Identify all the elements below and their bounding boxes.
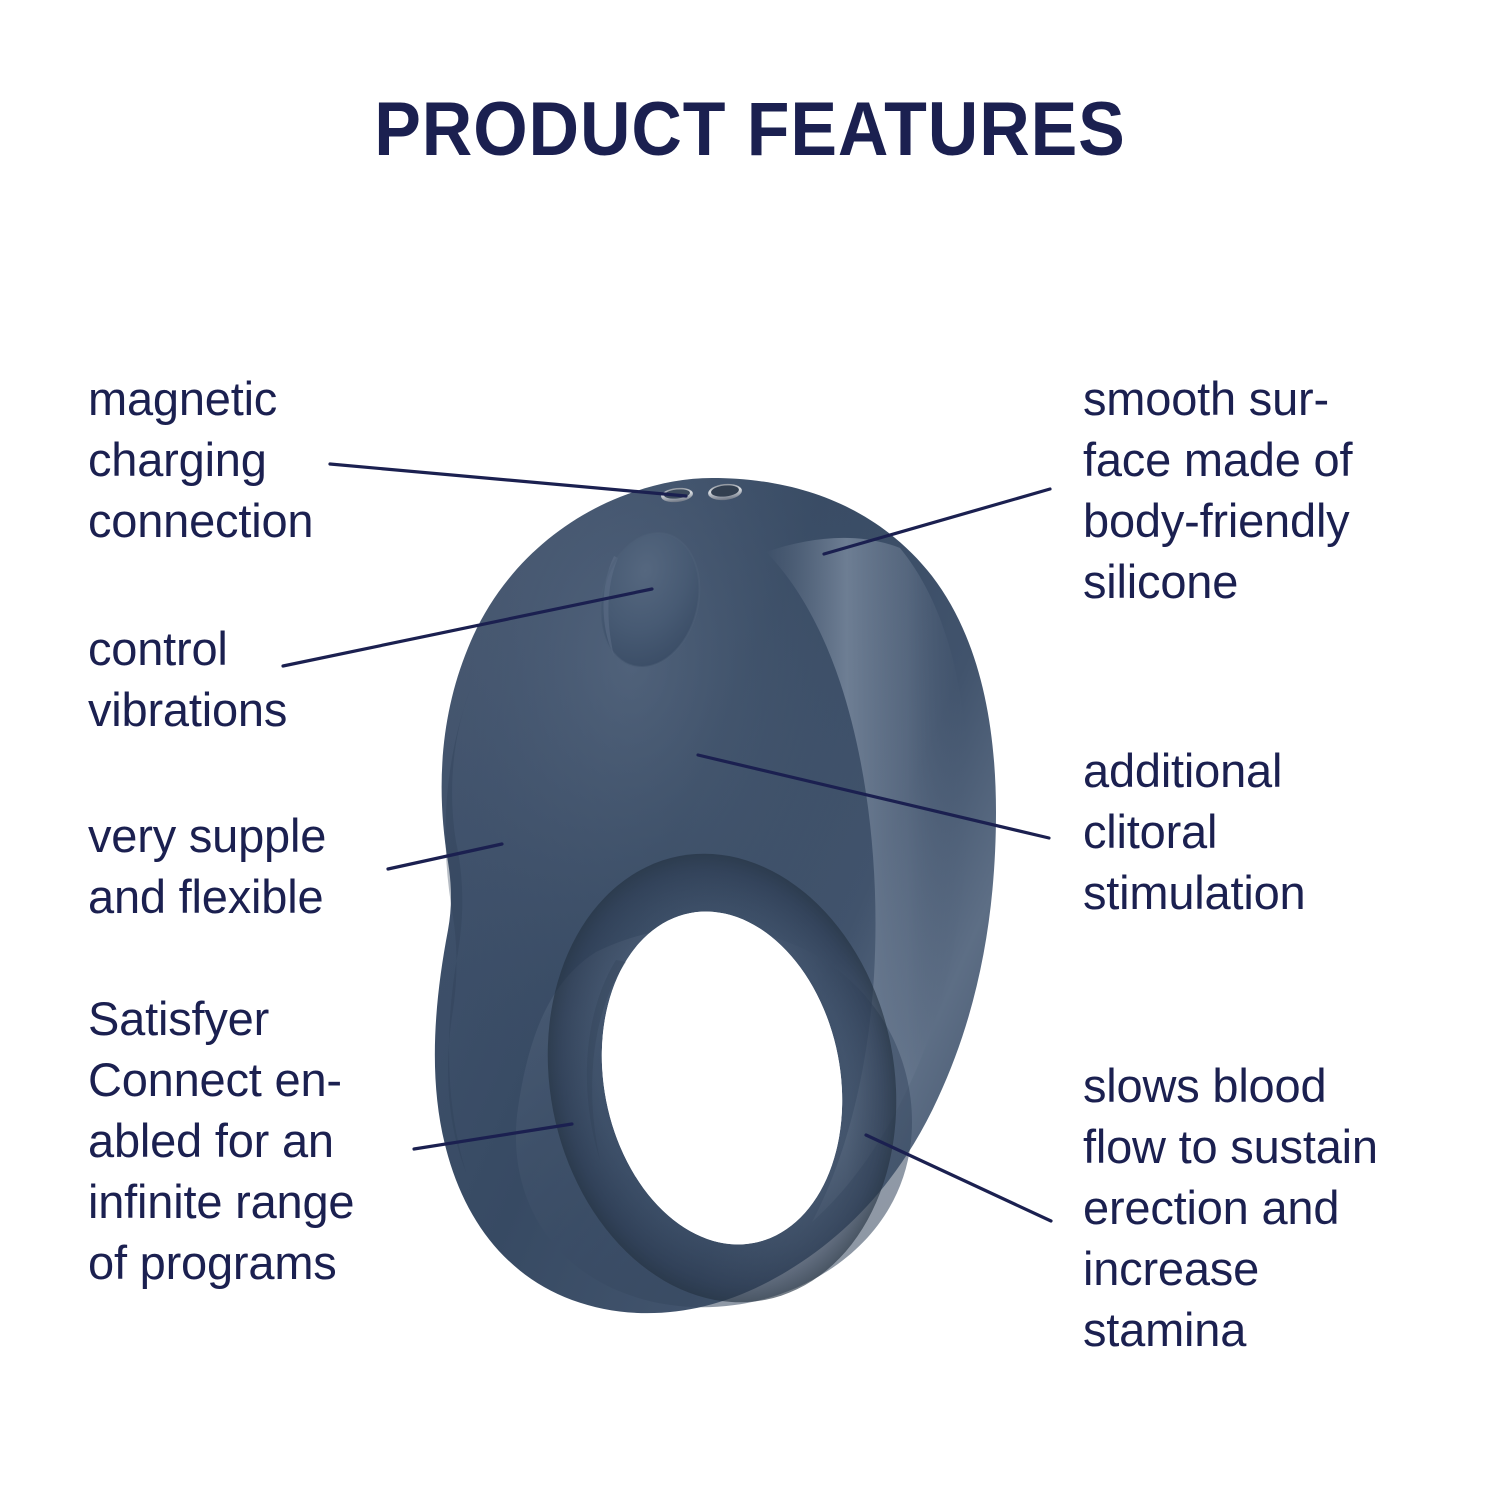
callout-slows-blood-flow: slows blood flow to sustain erection and…	[1083, 1055, 1443, 1360]
callout-smooth-surface-silicone: smooth sur- face made of body-friendly s…	[1083, 368, 1433, 612]
callout-very-supple-and-flexible: very supple and flexible	[88, 805, 438, 927]
callout-magnetic-charging-connection: magnetic charging connection	[88, 368, 448, 551]
callout-satisfyer-connect-enabled: Satisfyer Connect en- abled for an infin…	[88, 988, 428, 1293]
callout-additional-clitoral-stimulation: additional clitoral stimulation	[1083, 740, 1433, 923]
product-features-infographic: PRODUCT FEATURES	[0, 0, 1500, 1495]
callout-control-vibrations: control vibrations	[88, 618, 418, 740]
